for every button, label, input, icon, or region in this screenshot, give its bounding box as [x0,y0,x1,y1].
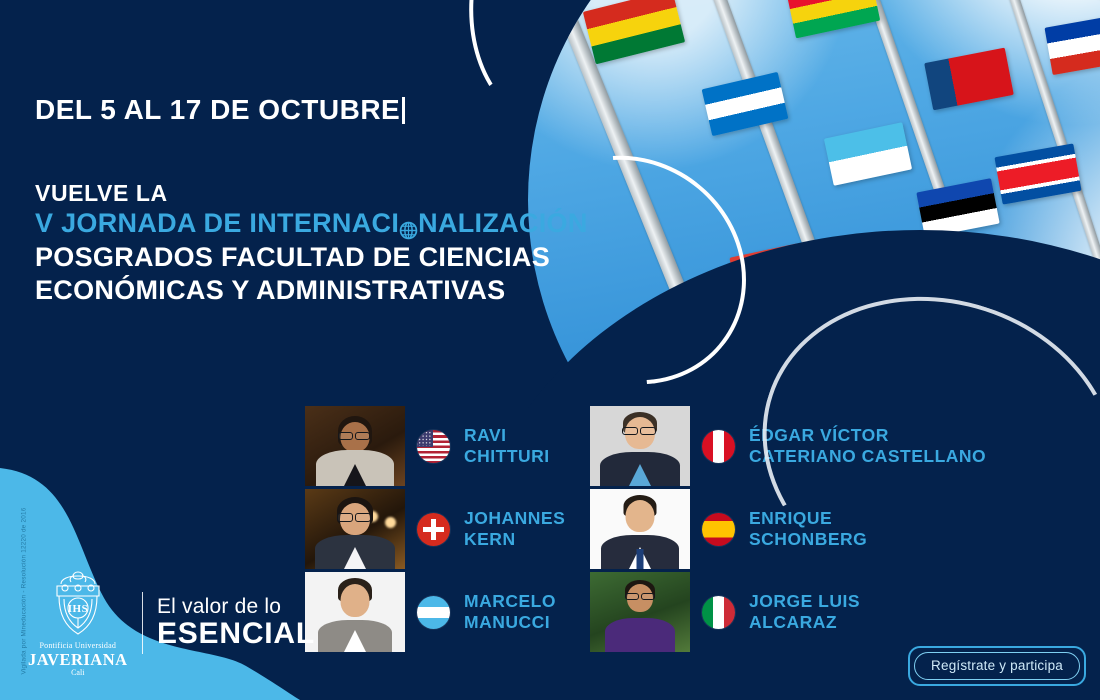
university-line2: JAVERIANA [28,651,128,669]
speaker-name-line2: CATERIANO CASTELLANO [749,446,986,467]
flag-argentina-icon [417,596,450,629]
speaker-name-line2: CHITTURI [464,446,550,467]
event-dates: DEL 5 AL 17 DE OCTUBRE [35,95,595,124]
university-line3: Cali [28,669,128,678]
brand-lockup: IHS Pontificia Universidad JAVERIANA Cal… [28,568,315,678]
speaker-name-line1: JOHANNES [464,508,565,529]
speaker-name-line2: MANUCCI [464,612,556,633]
flag-switzerland-icon [417,513,450,546]
headline-title-line3: ECONÓMICAS Y ADMINISTRATIVAS [35,274,595,308]
headline-title-accent-after: NALIZACIÓN [418,207,587,241]
headline-title-accent-before: V JORNADA DE INTERNACI [35,207,399,241]
university-logo: IHS Pontificia Universidad JAVERIANA Cal… [28,568,128,678]
speaker-card[interactable]: RAVI CHITTURI [305,405,580,487]
flag-peru-icon [702,430,735,463]
speaker-name-line1: ENRIQUE [749,508,867,529]
speaker-name-line2: SCHONBERG [749,529,867,550]
speaker-photo [305,406,405,486]
speaker-name-line1: RAVI [464,425,550,446]
speakers-column-left: RAVI CHITTURI [305,405,580,653]
speaker-name-line1: MARCELO [464,591,556,612]
poster-canvas: DEL 5 AL 17 DE OCTUBRE VUELVE LA V JORNA… [0,0,1100,700]
svg-text:IHS: IHS [68,603,88,615]
javeriana-crest-icon: IHS [47,568,109,640]
headline-title-accent: V JORNADA DE INTERNACI NALIZACIÓN [35,207,595,241]
university-name: Pontificia Universidad JAVERIANA Cali [28,642,128,678]
speaker-name-line2: ALCARAZ [749,612,860,633]
speakers-column-right: ÉDGAR VÍCTOR CATERIANO CASTELLANO [590,405,1005,653]
speaker-name: ENRIQUE SCHONBERG [749,508,867,551]
vigilada-legal-text: Vigilada por Mineducación - Resolución 1… [21,535,28,675]
speaker-photo [590,406,690,486]
speaker-name: JORGE LUIS ALCARAZ [749,591,860,634]
text-caret [402,97,405,124]
speaker-card[interactable]: ÉDGAR VÍCTOR CATERIANO CASTELLANO [590,405,1005,487]
speaker-card[interactable]: MARCELO MANUCCI [305,571,580,653]
brand-divider [142,592,143,654]
speaker-name: MARCELO MANUCCI [464,591,556,634]
speaker-photo [590,489,690,569]
speaker-card[interactable]: ENRIQUE SCHONBERG [590,488,1005,570]
speaker-photo [305,489,405,569]
speaker-name-line2: KERN [464,529,565,550]
event-dates-text: DEL 5 AL 17 DE OCTUBRE [35,94,400,125]
headline-kicker: VUELVE LA [35,180,595,206]
speaker-photo [305,572,405,652]
headline-title-line2: POSGRADOS FACULTAD DE CIENCIAS [35,241,595,275]
tagline-line1: El valor de lo [157,596,315,618]
speaker-name-line1: JORGE LUIS [749,591,860,612]
speaker-name: JOHANNES KERN [464,508,565,551]
flag-spain-icon [702,513,735,546]
speakers-grid: RAVI CHITTURI [305,405,1005,653]
headline-block: DEL 5 AL 17 DE OCTUBRE VUELVE LA V JORNA… [35,95,595,308]
speaker-name: RAVI CHITTURI [464,425,550,468]
speaker-name-line1: ÉDGAR VÍCTOR [749,425,986,446]
speaker-name: ÉDGAR VÍCTOR CATERIANO CASTELLANO [749,425,986,468]
brand-tagline: El valor de lo ESENCIAL [157,596,315,650]
flag-italy-icon [702,596,735,629]
speaker-card[interactable]: JOHANNES KERN [305,488,580,570]
speaker-card[interactable]: JORGE LUIS ALCARAZ [590,571,1005,653]
tagline-line2: ESENCIAL [157,618,315,650]
speaker-photo [590,572,690,652]
flag-usa-icon [417,430,450,463]
register-button[interactable]: Regístrate y participa [914,652,1080,680]
globe-icon [399,215,418,234]
register-focus-ring: Regístrate y participa [908,646,1086,686]
